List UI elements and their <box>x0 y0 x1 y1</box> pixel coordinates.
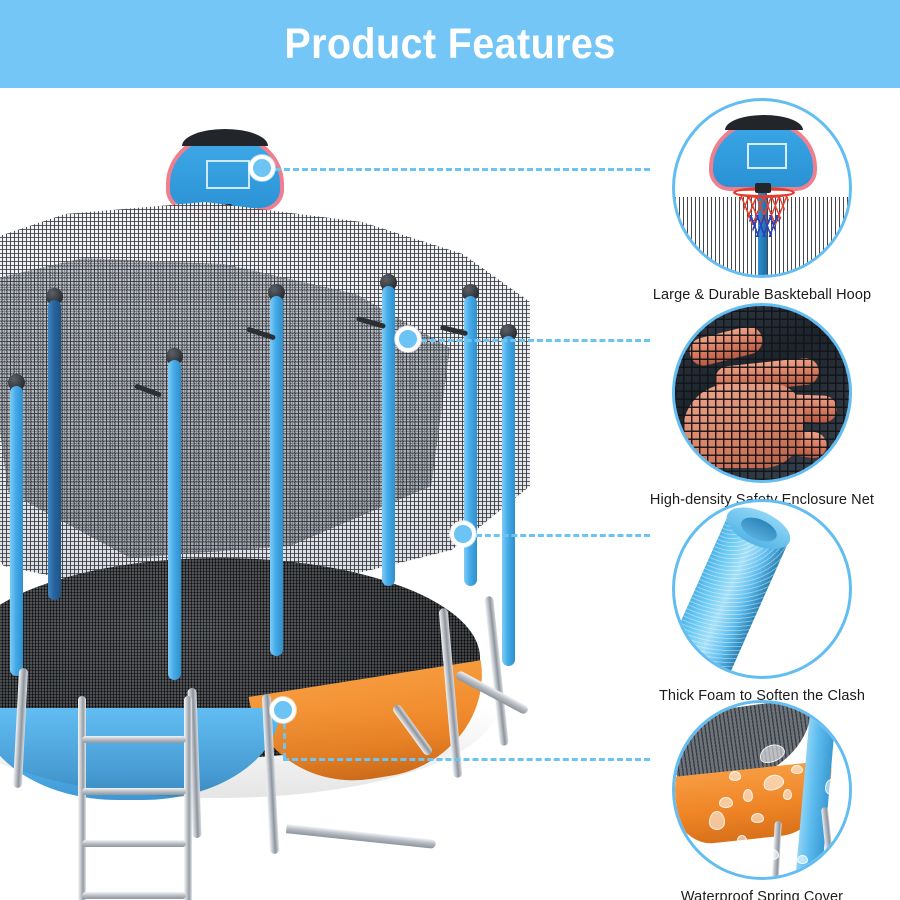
water-droplet <box>729 771 741 781</box>
enclosure-pole <box>48 300 61 600</box>
water-droplet <box>797 855 808 864</box>
hoop-target-square-icon <box>747 143 787 169</box>
callout-image-basketball-hoop <box>672 98 852 278</box>
ladder-rung <box>82 736 186 743</box>
enclosure-pole <box>10 386 23 676</box>
callout-image-spring-cover <box>672 700 852 880</box>
ladder-rung <box>82 840 186 847</box>
foam-tube <box>672 507 792 679</box>
product-image <box>0 88 640 900</box>
connector-line-4-horizontal <box>283 758 650 761</box>
callout-caption-1: Large & Durable Baskteball Hoop <box>637 287 887 303</box>
header-banner: Product Features <box>0 0 900 88</box>
page-title: Product Features <box>36 0 864 88</box>
callout-marker-2[interactable] <box>395 326 421 352</box>
water-droplet <box>751 813 764 823</box>
product-features-infographic: Product Features <box>0 0 900 900</box>
water-droplet <box>719 797 733 808</box>
hoop-bracket-icon <box>755 183 771 193</box>
hoop-top-bar <box>182 129 268 146</box>
enclosure-pole <box>502 336 515 666</box>
callout-caption-4: Waterproof Spring Cover <box>637 889 887 900</box>
water-droplet <box>791 765 803 774</box>
callout-marker-3[interactable] <box>450 521 476 547</box>
callout-spring-cover[interactable]: Waterproof Spring Cover <box>637 700 887 900</box>
enclosure-pole <box>168 360 181 680</box>
hoop-top-bar-icon <box>725 115 803 130</box>
net-mesh-overlay <box>675 306 849 480</box>
water-droplet <box>765 849 779 860</box>
callout-enclosure-net[interactable]: High-density Safety Enclosure Net <box>637 303 887 508</box>
connector-line-4-vertical <box>283 723 286 759</box>
leg-foot <box>286 824 436 849</box>
water-droplet <box>743 789 753 802</box>
hoop-target-square <box>206 160 250 189</box>
water-droplet <box>709 811 725 830</box>
callout-marker-4[interactable] <box>270 697 296 723</box>
connector-line-1 <box>275 168 650 171</box>
water-droplet <box>737 835 747 844</box>
connector-line-3 <box>476 534 650 537</box>
ladder-rail-left <box>78 696 86 900</box>
water-droplet <box>831 811 841 823</box>
ladder-rung <box>82 892 186 899</box>
ladder-rail-right <box>184 696 192 900</box>
callout-marker-1[interactable] <box>249 155 275 181</box>
callout-foam-sleeve[interactable]: Thick Foam to Soften the Clash <box>637 499 887 704</box>
enclosure-pole <box>382 286 395 586</box>
water-droplet <box>825 779 838 795</box>
callout-basketball-hoop[interactable]: Large & Durable Baskteball Hoop <box>637 98 887 303</box>
connector-line-2 <box>421 339 650 342</box>
enclosure-pole <box>270 296 283 656</box>
callout-image-foam-sleeve <box>672 499 852 679</box>
water-droplet <box>783 789 792 800</box>
callout-image-enclosure-net <box>672 303 852 483</box>
ladder-rung <box>82 788 186 795</box>
